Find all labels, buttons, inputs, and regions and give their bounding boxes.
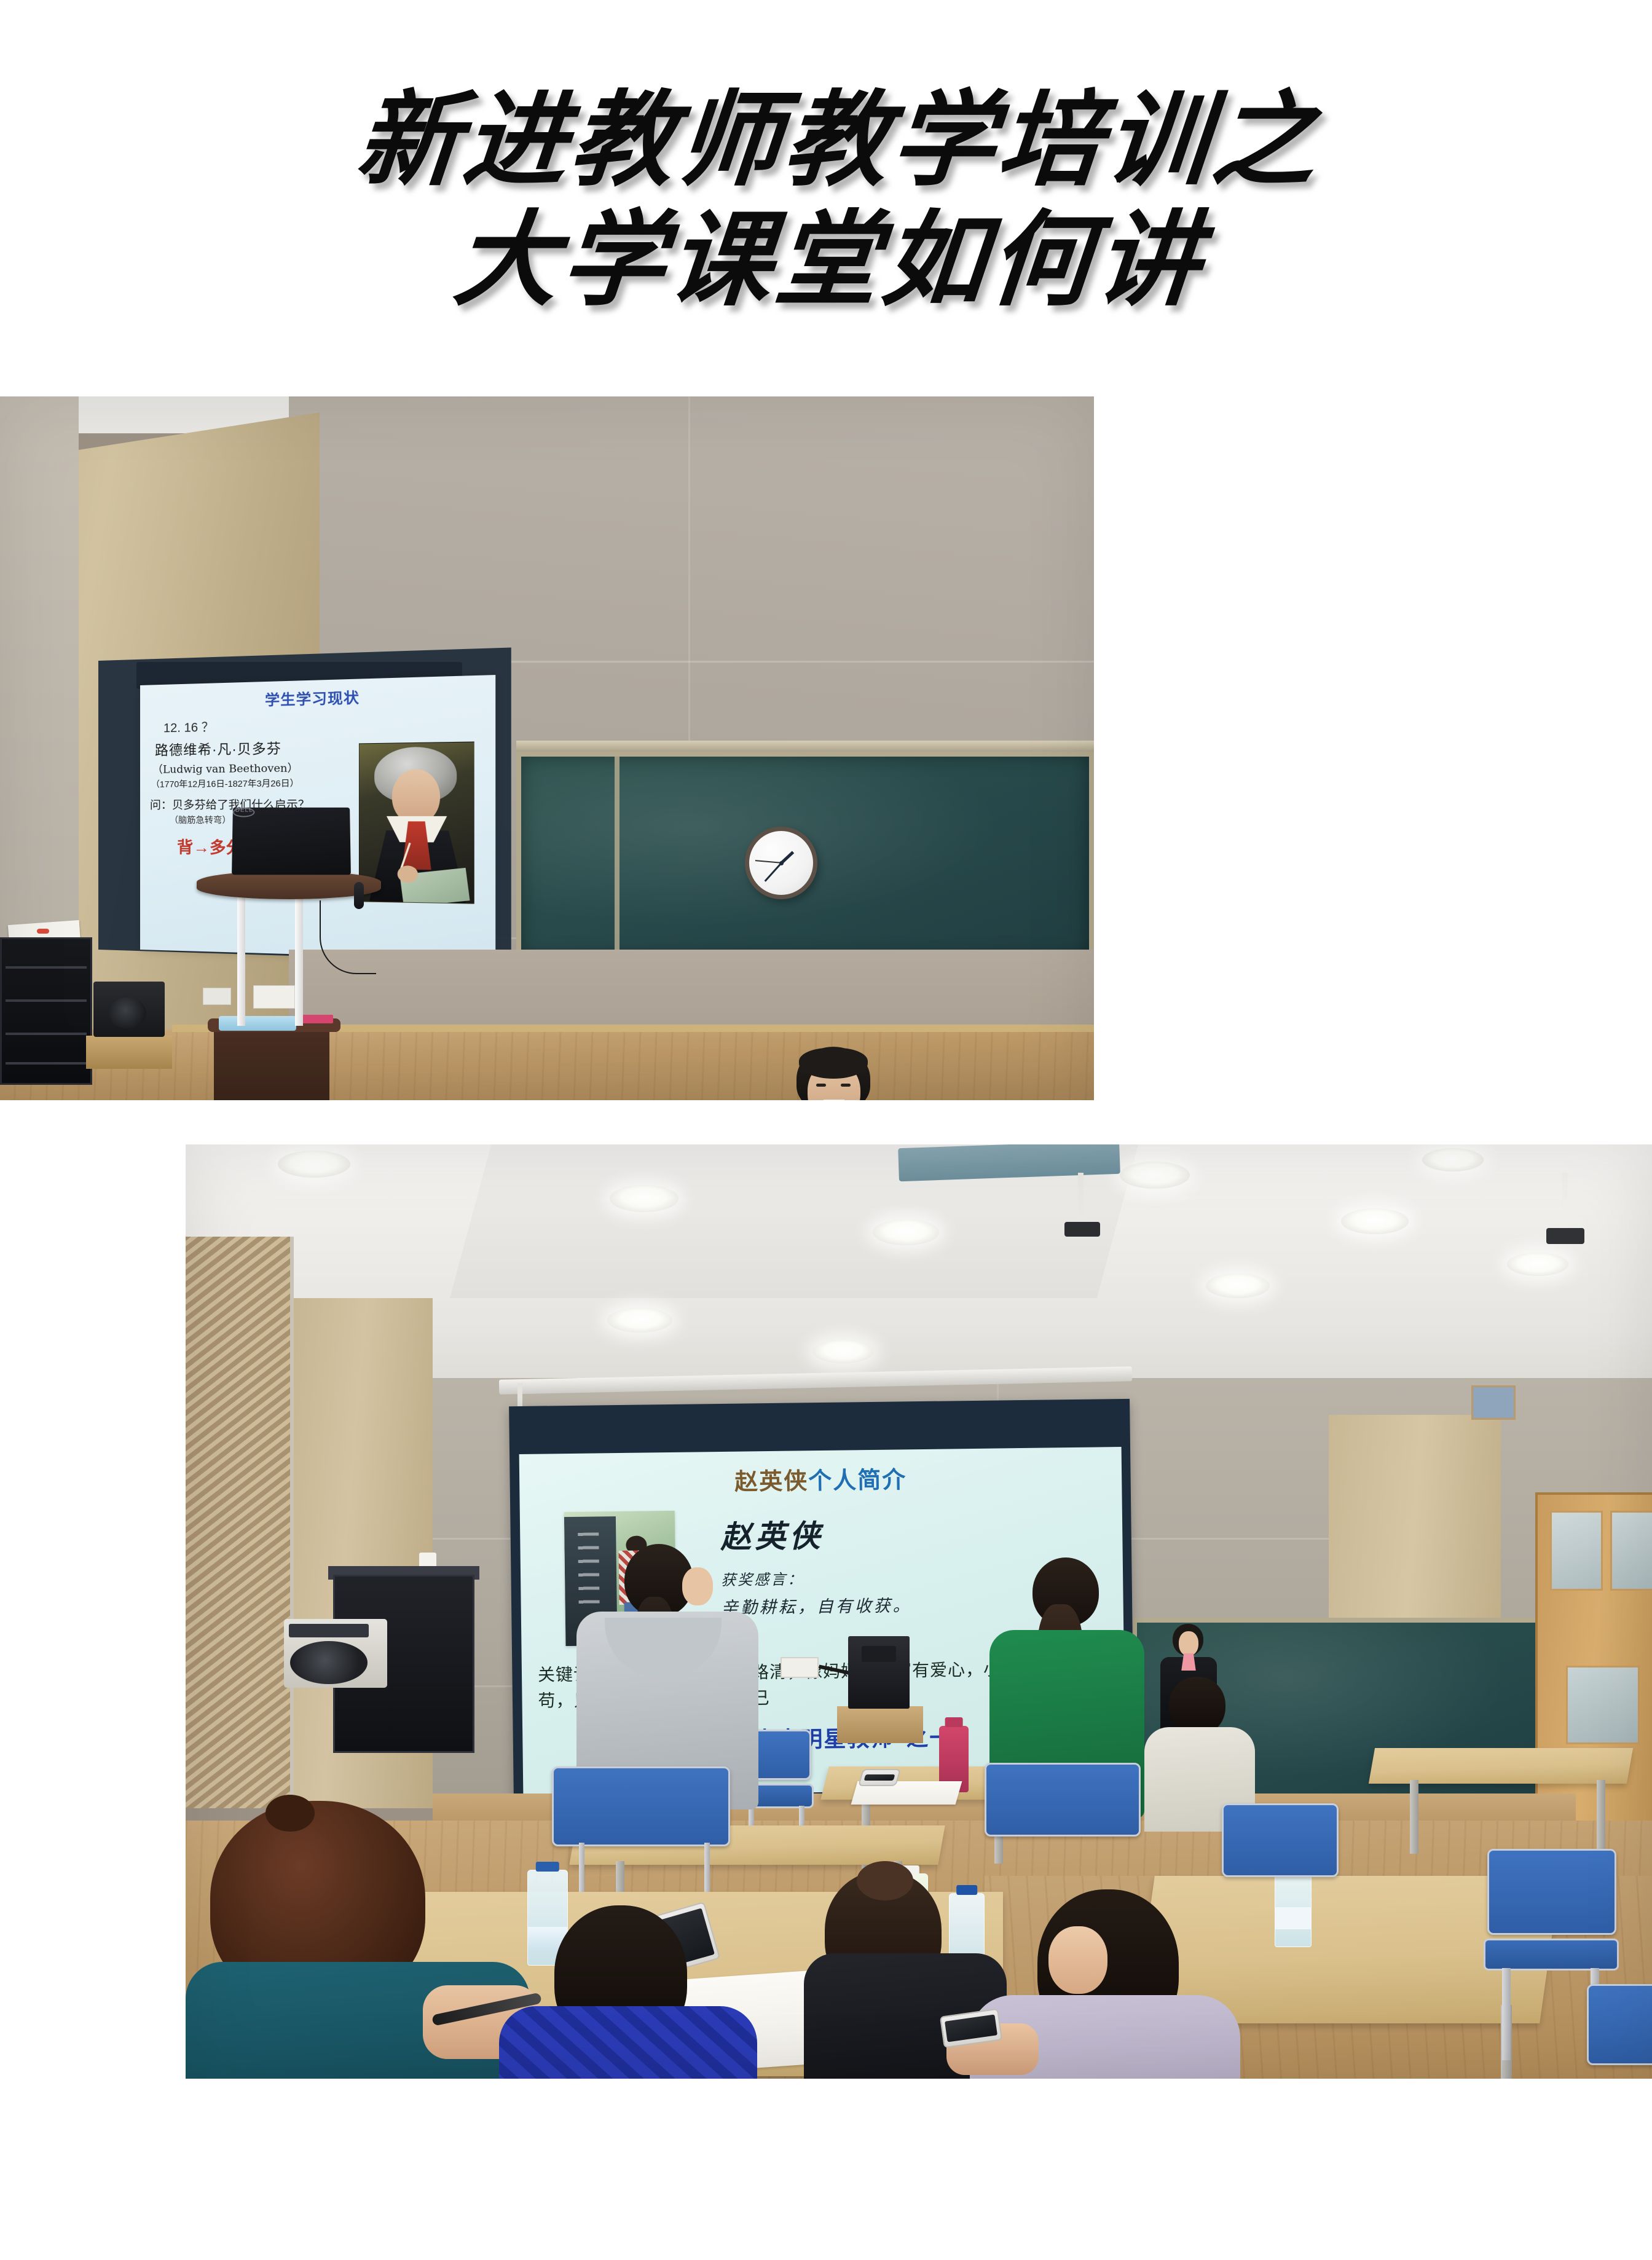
door-window-pane bbox=[1550, 1511, 1603, 1591]
speaker-port bbox=[862, 1646, 896, 1662]
photo-lecturer-presenting: 学生学习现状 12. 16 ？ 路德维希·凡·贝多芬 （Ludwig van B… bbox=[0, 396, 1094, 1100]
presenter-face bbox=[1179, 1631, 1198, 1656]
slide-life-dates: （1770年12月16日-1827年3月26日） bbox=[151, 776, 340, 790]
chair-backrest[interactable] bbox=[552, 1766, 730, 1846]
clock-minute-hand bbox=[764, 862, 782, 882]
bottle-cap bbox=[956, 1885, 977, 1895]
chair-leg bbox=[1502, 1968, 1511, 2060]
projector-mount-stem bbox=[1562, 1173, 1568, 1232]
slide-motto-label: 获奖感言： bbox=[721, 1565, 911, 1589]
podium-cabinet bbox=[214, 1026, 329, 1100]
chair-seat[interactable] bbox=[1484, 1939, 1619, 1971]
ceiling-downlight bbox=[1120, 1162, 1190, 1189]
ceiling-downlight bbox=[812, 1340, 874, 1363]
clock-center-pin bbox=[779, 861, 784, 865]
ceiling-downlight bbox=[873, 1219, 939, 1245]
ceiling-downlight bbox=[278, 1151, 350, 1178]
rack-shelf bbox=[6, 1033, 87, 1035]
ceiling-projector bbox=[1064, 1222, 1100, 1237]
attendee-hair-bun bbox=[265, 1795, 315, 1832]
dell-logo-icon: DELL bbox=[233, 808, 255, 817]
monument-inscription bbox=[578, 1532, 599, 1606]
presenter-person bbox=[749, 1047, 927, 1100]
floor-speaker bbox=[93, 982, 165, 1037]
chair-backrest[interactable] bbox=[1487, 1849, 1616, 1935]
table-leg bbox=[1597, 1780, 1605, 1849]
chair-backrest[interactable] bbox=[985, 1763, 1141, 1837]
door-window-pane bbox=[1610, 1511, 1652, 1591]
table bbox=[1369, 1748, 1633, 1784]
dell-logo-text: DELL bbox=[235, 807, 253, 814]
chalkboard-divider bbox=[615, 757, 619, 956]
wall-clock bbox=[745, 827, 817, 899]
electric-fan[interactable] bbox=[284, 1619, 387, 1688]
rack-shelf bbox=[6, 999, 87, 1002]
page-title-line-1: 新进教师教学培训之 bbox=[0, 80, 1652, 200]
photo-classroom-audience: 赵英侠个人简介 赵英侠 获奖感言： 辛勤耕耘，自有收获。 关键词：正能量，真性情… bbox=[186, 1144, 1652, 2079]
rack-shelf bbox=[6, 966, 87, 969]
ceiling-downlight bbox=[610, 1185, 678, 1212]
wall-socket[interactable] bbox=[203, 988, 231, 1005]
floor-speaker bbox=[848, 1636, 910, 1709]
slide-title-rest: 个人简介 bbox=[808, 1466, 907, 1494]
phone-screen bbox=[945, 2014, 997, 2042]
table-leg bbox=[1410, 1780, 1418, 1854]
ceiling-downlight bbox=[1341, 1208, 1409, 1234]
wall-picture bbox=[1471, 1385, 1516, 1420]
microphone[interactable] bbox=[354, 882, 364, 909]
attendee-face bbox=[682, 1567, 713, 1605]
ceiling-downlight bbox=[1422, 1148, 1484, 1171]
attendee-face bbox=[1048, 1926, 1107, 1994]
clock-second-hand bbox=[755, 860, 781, 864]
ceiling-downlight bbox=[1206, 1274, 1270, 1298]
laptop-tray bbox=[197, 871, 381, 899]
slide-title: 赵英侠个人简介 bbox=[535, 1458, 1106, 1498]
pink-notebook bbox=[302, 1015, 333, 1023]
chalkboard-top-trim bbox=[516, 741, 1094, 753]
portrait-face bbox=[392, 769, 440, 824]
attendee-blue-patterned-jacket bbox=[499, 2006, 757, 2079]
phone-screen bbox=[864, 1774, 895, 1781]
stand-pole bbox=[237, 896, 245, 1026]
slide-signature-block: 赵英侠 获奖感言： 辛勤耕耘，自有收获。 bbox=[720, 1510, 912, 1618]
ceiling-downlight bbox=[607, 1308, 672, 1333]
slide-title-name: 赵英侠 bbox=[734, 1467, 809, 1495]
attendee-hair-bun bbox=[857, 1861, 913, 1900]
screen-hook bbox=[517, 1383, 522, 1409]
slide-name-cn: 路德维希·凡·贝多芬 bbox=[155, 736, 340, 759]
slide-signature-name: 赵英侠 bbox=[720, 1510, 911, 1557]
blue-plastic-bag bbox=[219, 1016, 296, 1031]
slide-name-latin: （Ludwig van Beethoven） bbox=[152, 758, 340, 776]
bottle-label bbox=[1275, 1907, 1311, 1929]
smartphone[interactable] bbox=[858, 1769, 901, 1786]
ceiling-projector bbox=[1546, 1228, 1584, 1244]
speaker-plinth bbox=[837, 1706, 923, 1743]
fan-grille bbox=[290, 1641, 368, 1684]
ceiling-downlight bbox=[1507, 1253, 1568, 1276]
portrait-hand bbox=[398, 865, 418, 883]
presenter-fringe bbox=[799, 1048, 868, 1079]
speaker-plinth bbox=[86, 1036, 172, 1069]
page-title-line-2: 大学课堂如何讲 bbox=[0, 200, 1652, 320]
thermos-cap bbox=[945, 1717, 963, 1727]
projector-mount-stem bbox=[1078, 1173, 1084, 1226]
slide-title: 学生学习现状 bbox=[149, 682, 487, 712]
door-window-pane bbox=[1566, 1666, 1640, 1744]
presenter-smile bbox=[824, 1100, 844, 1100]
bottle-cap bbox=[536, 1862, 559, 1872]
window-blinds bbox=[186, 1237, 294, 1808]
presenter-eye-left bbox=[816, 1084, 826, 1087]
wall-socket[interactable] bbox=[781, 1657, 819, 1678]
slide-date-line: 12. 16 ？ bbox=[163, 714, 340, 736]
chair-backrest[interactable] bbox=[1587, 1984, 1652, 2065]
page-title: 新进教师教学培训之 大学课堂如何讲 bbox=[0, 80, 1652, 320]
dell-laptop[interactable]: DELL bbox=[232, 808, 351, 875]
rack-shelf bbox=[6, 1062, 87, 1065]
red-stamp bbox=[37, 929, 49, 934]
slide-motto-text: 辛勤耕耘，自有收获。 bbox=[721, 1592, 911, 1618]
speaker-cone bbox=[108, 998, 146, 1028]
stand-pole bbox=[295, 896, 303, 1026]
av-equipment-rack bbox=[0, 937, 92, 1085]
wall-outlet-panel[interactable] bbox=[253, 985, 295, 1009]
presenter-eye-right bbox=[841, 1084, 851, 1087]
fan-control-bar[interactable] bbox=[289, 1624, 369, 1637]
chair-backrest[interactable] bbox=[1222, 1803, 1339, 1877]
